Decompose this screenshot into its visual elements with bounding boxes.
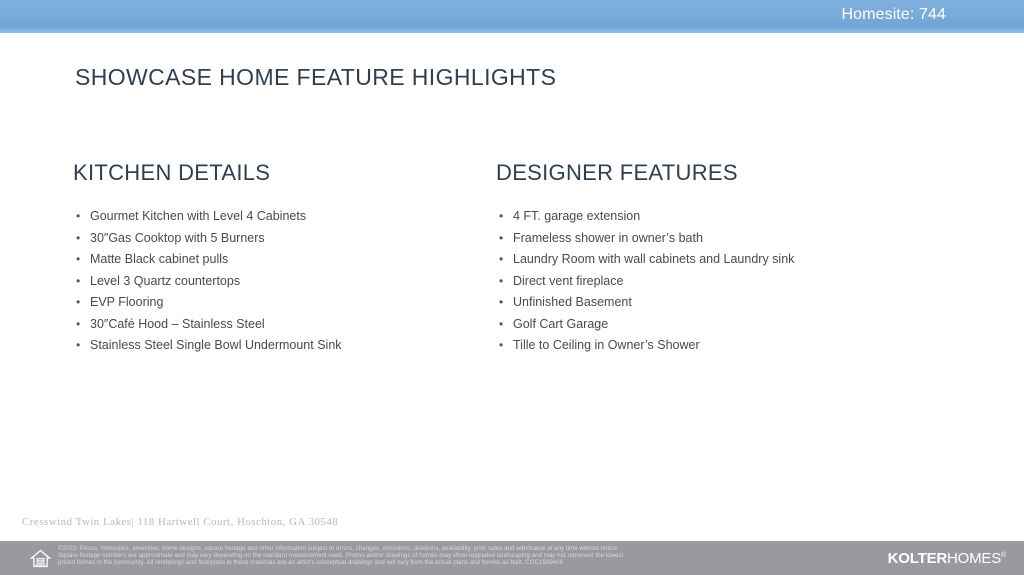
column-heading-kitchen: KITCHEN DETAILS (73, 160, 493, 186)
feature-list-kitchen: • Gourmet Kitchen with Level 4 Cabinets … (73, 206, 493, 357)
bullet-icon: • (76, 228, 80, 250)
list-item: • 30″Gas Cooktop with 5 Burners (73, 228, 493, 250)
bullet-icon: • (76, 206, 80, 228)
bullet-icon: • (76, 271, 80, 293)
list-item: • Matte Black cabinet pulls (73, 249, 493, 271)
list-item-label: Matte Black cabinet pulls (90, 252, 228, 266)
list-item: • Frameless shower in owner’s bath (496, 228, 956, 250)
bullet-icon: • (76, 314, 80, 336)
bullet-icon: • (499, 206, 503, 228)
list-item-label: Frameless shower in owner’s bath (513, 231, 703, 245)
community-address-line: Cresswind Twin Lakes| 118 Hartwell Court… (22, 516, 338, 528)
column-designer-features: DESIGNER FEATURES • 4 FT. garage extensi… (496, 160, 956, 357)
bullet-icon: • (499, 271, 503, 293)
list-item-label: Golf Cart Garage (513, 317, 608, 331)
homesite-label: Homesite: 744 (842, 6, 946, 24)
disclaimer-line: priced homes in the community. All rende… (58, 559, 864, 566)
feature-list-designer: • 4 FT. garage extension • Frameless sho… (496, 206, 956, 357)
list-item: • Tille to Ceiling in Owner’s Shower (496, 335, 956, 357)
list-item: • EVP Flooring (73, 292, 493, 314)
brand-name-light: HOMES (947, 550, 1001, 567)
list-item-label: Level 3 Quartz countertops (90, 274, 240, 288)
bullet-icon: • (499, 335, 503, 357)
registered-mark: ® (1001, 552, 1006, 559)
list-item: • 30″Café Hood – Stainless Steel (73, 314, 493, 336)
list-item: • Laundry Room with wall cabinets and La… (496, 249, 956, 271)
list-item-label: Unfinished Basement (513, 295, 632, 309)
list-item-label: Gourmet Kitchen with Level 4 Cabinets (90, 209, 306, 223)
list-item-label: Stainless Steel Single Bowl Undermount S… (90, 338, 342, 352)
list-item: • Stainless Steel Single Bowl Undermount… (73, 335, 493, 357)
list-item: • Gourmet Kitchen with Level 4 Cabinets (73, 206, 493, 228)
bullet-icon: • (76, 292, 80, 314)
list-item: • Direct vent fireplace (496, 271, 956, 293)
page-title: SHOWCASE HOME FEATURE HIGHLIGHTS (75, 64, 556, 91)
list-item-label: Direct vent fireplace (513, 274, 623, 288)
list-item-label: Tille to Ceiling in Owner’s Shower (513, 338, 700, 352)
bullet-icon: • (76, 335, 80, 357)
list-item: • Golf Cart Garage (496, 314, 956, 336)
bullet-icon: • (499, 292, 503, 314)
disclaimer-line: ©2022. Prices, homesites, amenities, hom… (58, 545, 864, 552)
bullet-icon: • (76, 249, 80, 271)
list-item: • Level 3 Quartz countertops (73, 271, 493, 293)
kolter-homes-logo: KOLTERHOMES® (888, 550, 1006, 567)
list-item-label: EVP Flooring (90, 295, 163, 309)
list-item: • 4 FT. garage extension (496, 206, 956, 228)
bullet-icon: • (499, 314, 503, 336)
list-item: • Unfinished Basement (496, 292, 956, 314)
equal-housing-opportunity-icon (30, 548, 51, 569)
column-heading-designer: DESIGNER FEATURES (496, 160, 956, 186)
bullet-icon: • (499, 228, 503, 250)
disclaimer-line: Square footage numbers are approximate a… (58, 552, 864, 559)
list-item-label: 30″Gas Cooktop with 5 Burners (90, 231, 265, 245)
column-kitchen-details: KITCHEN DETAILS • Gourmet Kitchen with L… (73, 160, 493, 357)
list-item-label: 30″Café Hood – Stainless Steel (90, 317, 265, 331)
list-item-label: 4 FT. garage extension (513, 209, 640, 223)
brand-name-bold: KOLTER (888, 550, 947, 567)
list-item-label: Laundry Room with wall cabinets and Laun… (513, 252, 794, 266)
legal-disclaimer: ©2022. Prices, homesites, amenities, hom… (58, 545, 864, 567)
bullet-icon: • (499, 249, 503, 271)
